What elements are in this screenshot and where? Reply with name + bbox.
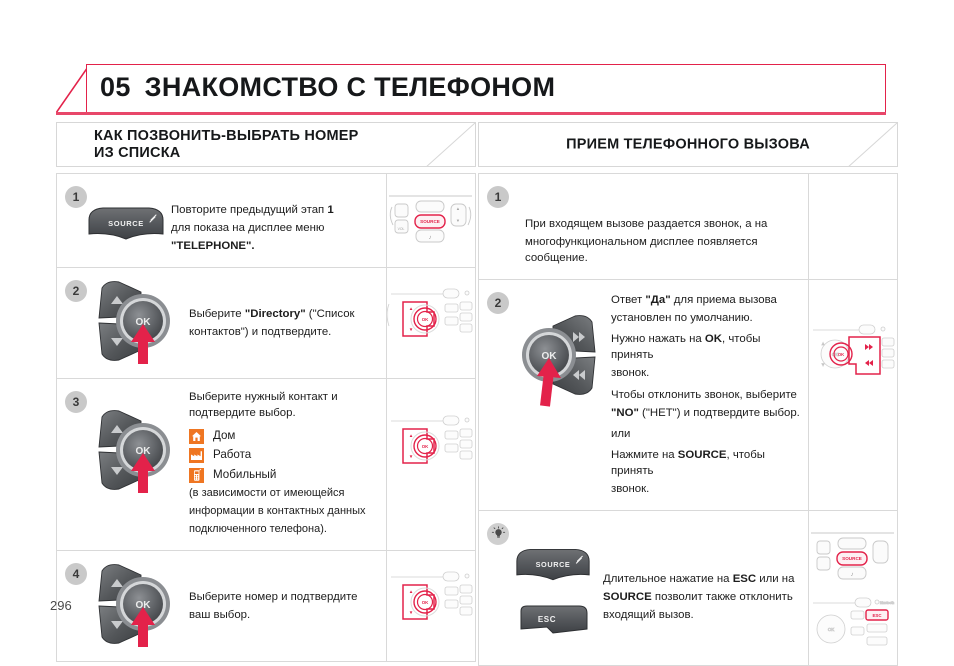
step-text-line: входящий вызов. bbox=[603, 607, 802, 623]
section-title-line2: ИЗ СПИСКА bbox=[94, 145, 359, 162]
thumbnail-cell: OK ▲ ▼ bbox=[386, 379, 475, 551]
section-header-cut-corner bbox=[837, 123, 897, 166]
section-title: КАК ПОЗВОНИТЬ-ВЫБРАТЬ НОМЕР ИЗ СПИСКА bbox=[94, 127, 359, 161]
home-icon bbox=[189, 429, 204, 444]
step-text-line2: для показа на дисплее меню bbox=[171, 220, 380, 236]
svg-text:SOURCE: SOURCE bbox=[108, 219, 144, 228]
status-badge: 2 bbox=[65, 280, 87, 302]
svg-text:OK: OK bbox=[422, 600, 429, 605]
step-text-line1: При входящем вызове раздается звонок, а … bbox=[525, 216, 802, 232]
thumbnail-cell: SOURCE ♪ Bluetooth OK bbox=[808, 511, 897, 665]
svg-text:OK: OK bbox=[422, 317, 429, 322]
table-row: SOURCE ESC bbox=[479, 511, 897, 666]
step-text-line1: Выберите номер и подтвердите bbox=[189, 589, 380, 605]
svg-text:ESC: ESC bbox=[538, 615, 556, 624]
step-content: 1 SOURCE Повто bbox=[57, 174, 386, 267]
step-content: SOURCE ESC bbox=[479, 511, 808, 665]
step-text-line: Нужно нажать на OK, чтобы принять bbox=[611, 331, 802, 363]
rocker-ok-button[interactable]: OK bbox=[89, 276, 185, 368]
svg-text:SOURCE: SOURCE bbox=[842, 556, 862, 561]
left-steps-table: 1 SOURCE Повто bbox=[56, 173, 476, 662]
step-text: Длительное нажатие на ESC или на SOURCE … bbox=[603, 521, 802, 653]
step-text-line: Длительное нажатие на ESC или на bbox=[603, 571, 802, 587]
rocker-ok-track-button[interactable]: OK bbox=[515, 310, 607, 500]
section-header-call-from-list: КАК ПОЗВОНИТЬ-ВЫБРАТЬ НОМЕР ИЗ СПИСКА bbox=[56, 122, 476, 167]
step-intro-text: Выберите нужный контакт и подтвердите вы… bbox=[189, 389, 380, 421]
step-content: 3 bbox=[57, 379, 386, 551]
right-steps-table: 1 При входящем вызове раздается звонок, … bbox=[478, 173, 898, 666]
table-row: 1 При входящем вызове раздается звонок, … bbox=[479, 174, 897, 280]
steering-wheel-ok-highlight: OK ▲ ▼ bbox=[387, 551, 474, 645]
esc-button[interactable]: ESC bbox=[517, 603, 597, 639]
contact-label: Работа bbox=[213, 447, 251, 463]
status-badge: 2 bbox=[487, 292, 509, 314]
svg-text:SOURCE: SOURCE bbox=[536, 560, 571, 569]
steering-wheel-source-highlight: SOURCE ♪ VOL ▲ ▼ bbox=[387, 174, 474, 263]
step-text-line: звонок. bbox=[611, 365, 802, 381]
step-text-line1: Выберите "Directory" ("Список bbox=[189, 306, 380, 322]
thumbnail-cell: OK ▲ ▼ bbox=[386, 551, 475, 661]
svg-text:OK: OK bbox=[828, 627, 834, 632]
button-illustrations: SOURCE ESC bbox=[511, 547, 597, 653]
thumbnail-cell: SOURCE ♪ VOL ▲ ▼ bbox=[386, 174, 475, 267]
step-text: Повторите предыдущий этап 1 для показа н… bbox=[171, 184, 380, 257]
step-content: 1 При входящем вызове раздается звонок, … bbox=[479, 174, 808, 279]
section-header-receive-call: ПРИЕМ ТЕЛЕФОННОГО ВЫЗОВА bbox=[478, 122, 898, 167]
svg-text:SOURCE: SOURCE bbox=[420, 219, 440, 224]
work-factory-icon bbox=[189, 448, 204, 463]
status-badge: 3 bbox=[65, 391, 87, 413]
step-text-line2: многофункциональном дисплее появляется с… bbox=[525, 234, 802, 266]
svg-text:VOL: VOL bbox=[398, 227, 405, 231]
svg-text:OK: OK bbox=[838, 352, 844, 357]
section-title-line1: КАК ПОЗВОНИТЬ-ВЫБРАТЬ НОМЕР bbox=[94, 127, 359, 144]
status-badge: 4 bbox=[65, 563, 87, 585]
step-text-line: звонок. bbox=[611, 481, 802, 497]
svg-text:ESC: ESC bbox=[872, 613, 882, 618]
thumbnail-cell bbox=[808, 174, 897, 279]
table-row: 2 bbox=[57, 268, 475, 379]
right-column: ПРИЕМ ТЕЛЕФОННОГО ВЫЗОВА 1 При входящем … bbox=[478, 122, 898, 666]
status-badge: 1 bbox=[65, 186, 87, 208]
svg-text:▲: ▲ bbox=[409, 306, 414, 311]
chapter-title-text: ЗНАКОМСТВО С ТЕЛЕФОНОМ bbox=[145, 72, 556, 102]
svg-text:♪: ♪ bbox=[851, 572, 854, 578]
manual-page: 05ЗНАКОМСТВО С ТЕЛЕФОНОМ КАК ПОЗВОНИТЬ-В… bbox=[0, 0, 954, 651]
table-row: 4 bbox=[57, 551, 475, 662]
step-note: (в зависимости от имеющейся информации в… bbox=[189, 486, 380, 538]
svg-text:▼: ▼ bbox=[821, 362, 825, 367]
page-title: 05ЗНАКОМСТВО С ТЕЛЕФОНОМ bbox=[100, 72, 555, 103]
step-text-line: Чтобы отклонить звонок, выберите bbox=[611, 387, 802, 403]
svg-text:▼: ▼ bbox=[409, 454, 414, 459]
step-text-line2: ваш выбор. bbox=[189, 607, 380, 623]
step-text-line2: контактов") и подтвердите. bbox=[189, 324, 380, 340]
step-text: При входящем вызове раздается звонок, а … bbox=[525, 184, 802, 269]
mobile-phone-icon bbox=[189, 468, 204, 483]
step-text-line: SOURCE позволит также отклонить bbox=[603, 589, 802, 605]
thumbnail-cell: OK ▲ ▼ bbox=[386, 268, 475, 378]
step-text: Выберите нужный контакт и подтвердите вы… bbox=[189, 389, 380, 541]
steering-wheel-ok-highlight: OK ▲ ▼ bbox=[387, 268, 474, 364]
step-text-line: Нажмите на SOURCE, чтобы принять bbox=[611, 447, 802, 479]
section-header-cut-corner bbox=[415, 123, 475, 166]
svg-text:▼: ▼ bbox=[409, 327, 414, 332]
source-button[interactable]: SOURCE bbox=[511, 547, 597, 589]
list-item: Мобильный bbox=[189, 467, 380, 483]
status-badge: 1 bbox=[487, 186, 509, 208]
title-diagonal-decoration bbox=[56, 64, 90, 113]
svg-text:▲: ▲ bbox=[821, 341, 825, 346]
svg-text:♪: ♪ bbox=[429, 235, 432, 241]
table-row: 2 bbox=[479, 280, 897, 511]
svg-text:▼: ▼ bbox=[409, 610, 414, 615]
table-row: 1 SOURCE Повто bbox=[57, 174, 475, 268]
contact-label: Дом bbox=[213, 428, 235, 444]
chapter-number: 05 bbox=[100, 72, 131, 102]
step-content: 4 bbox=[57, 551, 386, 661]
list-item: Работа bbox=[189, 447, 380, 463]
title-underline bbox=[56, 112, 886, 115]
svg-text:▲: ▲ bbox=[409, 433, 414, 438]
step-content: 2 bbox=[57, 268, 386, 378]
step-text-line: или bbox=[611, 426, 802, 442]
empty-thumbnail bbox=[809, 174, 896, 272]
table-row: 3 bbox=[57, 379, 475, 552]
step-text-line: "NO" ("НЕТ") и подтвердите выбор. bbox=[611, 405, 802, 421]
step-note-line1: (в зависимости от имеющейся bbox=[189, 486, 380, 502]
step-text-line: установлен по умолчанию. bbox=[611, 310, 802, 326]
svg-text:OK: OK bbox=[422, 444, 429, 449]
step-note-line2: информации в контактных данных bbox=[189, 504, 380, 520]
svg-text:▼: ▼ bbox=[456, 218, 460, 223]
left-column: КАК ПОЗВОНИТЬ-ВЫБРАТЬ НОМЕР ИЗ СПИСКА 1 bbox=[56, 122, 476, 662]
steering-wheel-ok-highlight: OK ▲ ▼ bbox=[387, 379, 474, 508]
svg-text:Bluetooth: Bluetooth bbox=[880, 601, 894, 605]
lightbulb-tip-icon bbox=[487, 523, 509, 545]
source-button[interactable]: SOURCE bbox=[83, 206, 169, 257]
console-esc-and-source-highlight: SOURCE ♪ Bluetooth OK bbox=[809, 511, 896, 665]
rocker-ok-button[interactable]: OK bbox=[89, 559, 185, 651]
step-text-line: Ответ "Да" для приема вызова bbox=[611, 292, 802, 308]
step-note-line3: подключенного телефона). bbox=[189, 522, 380, 538]
steering-wheel-track-highlight: OK ▲ ▼ OK bbox=[809, 280, 896, 420]
contact-type-list: Дом Работа bbox=[189, 428, 380, 483]
page-number: 296 bbox=[50, 598, 72, 613]
rocker-ok-button[interactable]: OK bbox=[89, 405, 185, 541]
list-item: Дом bbox=[189, 428, 380, 444]
svg-text:▲: ▲ bbox=[456, 206, 460, 211]
step-text-line1: Повторите предыдущий этап 1 bbox=[171, 202, 380, 218]
step-text: Выберите номер и подтвердите ваш выбор. bbox=[189, 561, 380, 651]
thumbnail-cell: OK ▲ ▼ OK bbox=[808, 280, 897, 510]
step-text-line3: "TELEPHONE". bbox=[171, 238, 380, 254]
contact-label: Мобильный bbox=[213, 467, 276, 483]
step-content: 2 bbox=[479, 280, 808, 510]
step-text: Выберите "Directory" ("Список контактов"… bbox=[189, 278, 380, 368]
svg-text:▲: ▲ bbox=[409, 589, 414, 594]
step-text: Ответ "Да" для приема вызова установлен … bbox=[611, 290, 802, 500]
